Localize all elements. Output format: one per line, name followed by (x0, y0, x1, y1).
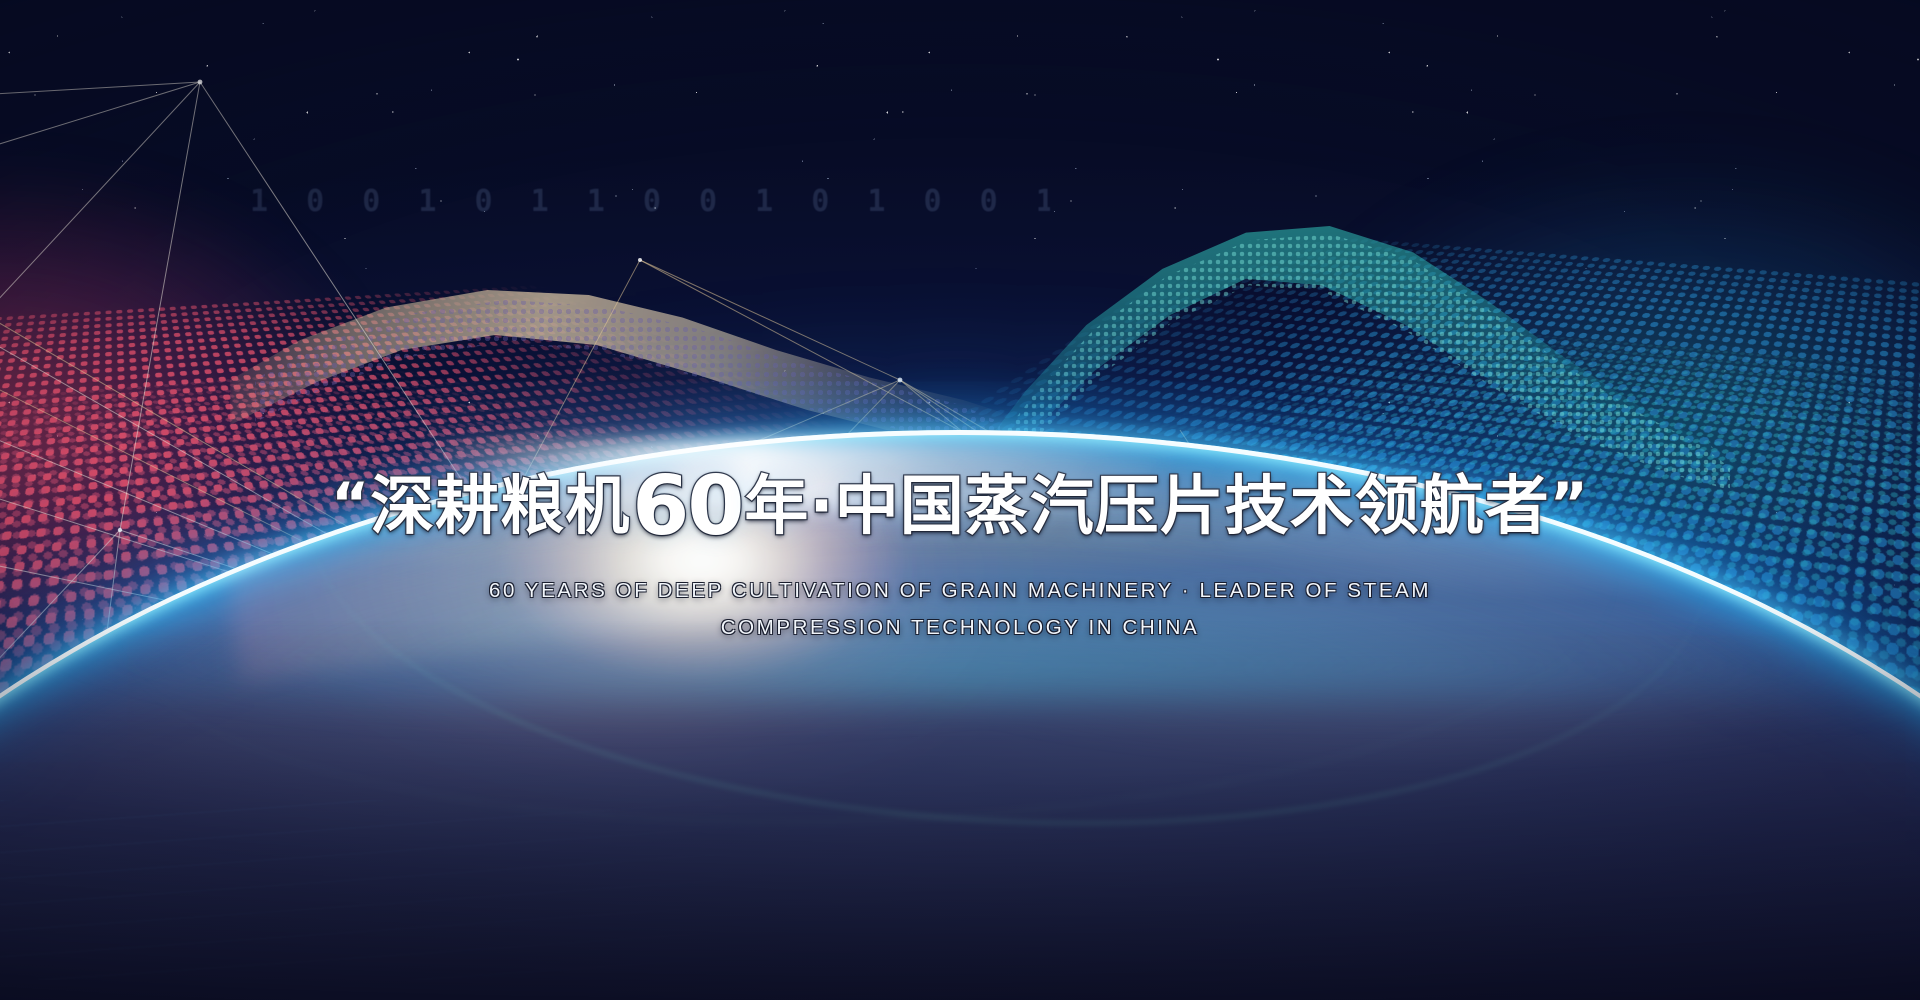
binary-glyph-band: 1 0 0 1 0 1 1 0 0 1 0 1 0 0 1 1 0 1 0 0 … (250, 178, 1050, 224)
subtitle-line-one: 60 YEARS OF DEEP CULTIVATION OF GRAIN MA… (0, 574, 1920, 607)
teal-crest-dot-overlay (990, 170, 1730, 490)
red-wave-glow (0, 150, 650, 770)
teal-crest-arc (980, 160, 1740, 490)
tan-crest-ribbon (230, 225, 1010, 475)
title-segment-one: 深耕粮机 (370, 470, 630, 544)
bottom-scanline-streaks (0, 800, 760, 980)
teal-halftone-wave-secondary (533, 317, 1920, 1000)
title-number-60: 60 (630, 459, 744, 554)
red-halftone-wave-secondary (0, 353, 1426, 1000)
open-quote-icon: “ (331, 470, 370, 538)
title-segment-two: 年·中国蒸汽压片技术领航者 (744, 470, 1549, 544)
banner-canvas: 1 0 0 1 0 1 1 0 0 1 0 1 0 0 1 1 0 1 0 0 … (0, 0, 1920, 1000)
tan-crest-dot-overlay (240, 235, 1000, 475)
banner-text-block: “深耕粮机60年·中国蒸汽压片技术领航者” 60 YEARS OF DEEP C… (0, 466, 1920, 644)
page-title: “深耕粮机60年·中国蒸汽压片技术领航者” (0, 466, 1920, 548)
subtitle-line-two: COMPRESSION TECHNOLOGY IN CHINA (0, 611, 1920, 644)
close-quote-icon: ” (1550, 470, 1589, 538)
